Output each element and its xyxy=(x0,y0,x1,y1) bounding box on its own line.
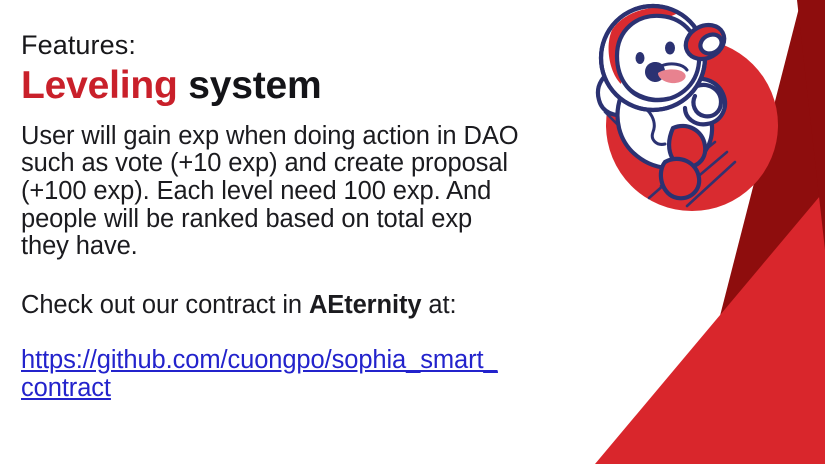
suit-cord xyxy=(639,104,665,144)
cta-brand-name: AEternity xyxy=(309,291,421,319)
dark-red-wedge xyxy=(693,0,825,464)
eyebrow-label: Features: xyxy=(21,30,541,60)
helmet-visor xyxy=(617,16,699,100)
cta-suffix: at: xyxy=(421,291,456,319)
cta-paragraph: Check out our contract in AEternity at: xyxy=(21,291,541,319)
helmet-earpiece xyxy=(680,18,730,65)
cta-prefix: Check out our contract in xyxy=(21,291,309,319)
white-notch xyxy=(595,0,801,464)
headline-accent-word: Leveling xyxy=(21,64,178,107)
astronaut-eye-left xyxy=(636,52,645,64)
astronaut-right-hand xyxy=(693,85,721,116)
astronaut-mouth xyxy=(645,62,665,82)
contract-repository-link[interactable]: https://github.com/cuongpo/sophia_smart_… xyxy=(21,346,498,402)
body-paragraph: User will gain exp when doing action in … xyxy=(21,123,521,261)
astronaut-torso xyxy=(618,84,713,168)
astronaut-helmet xyxy=(601,6,705,110)
speed-lines xyxy=(605,104,735,206)
astronaut-tongue xyxy=(658,69,686,83)
contract-link-wrapper: https://github.com/cuongpo/sophia_smart_… xyxy=(21,346,508,402)
helmet-red-accent xyxy=(609,8,681,84)
text-column: Features: Leveling system User will gain… xyxy=(21,30,541,402)
bright-red-triangle xyxy=(595,190,825,464)
mouth-line xyxy=(661,64,687,70)
page-title: Leveling system xyxy=(21,64,541,108)
astronaut-left-arm xyxy=(598,70,633,115)
red-circle xyxy=(606,39,778,211)
astronaut-boot xyxy=(661,159,699,198)
astronaut-mascot xyxy=(598,6,735,206)
headline-plain-word: system xyxy=(178,64,322,107)
dark-red-edge xyxy=(797,0,825,250)
astronaut-right-arm xyxy=(683,78,725,124)
astronaut-eye-right xyxy=(665,42,675,55)
astronaut-leg-upper xyxy=(669,126,705,167)
decorative-artwork xyxy=(565,0,825,464)
helmet-chin-shadow xyxy=(625,84,669,99)
slide-canvas: Features: Leveling system User will gain… xyxy=(0,0,825,464)
